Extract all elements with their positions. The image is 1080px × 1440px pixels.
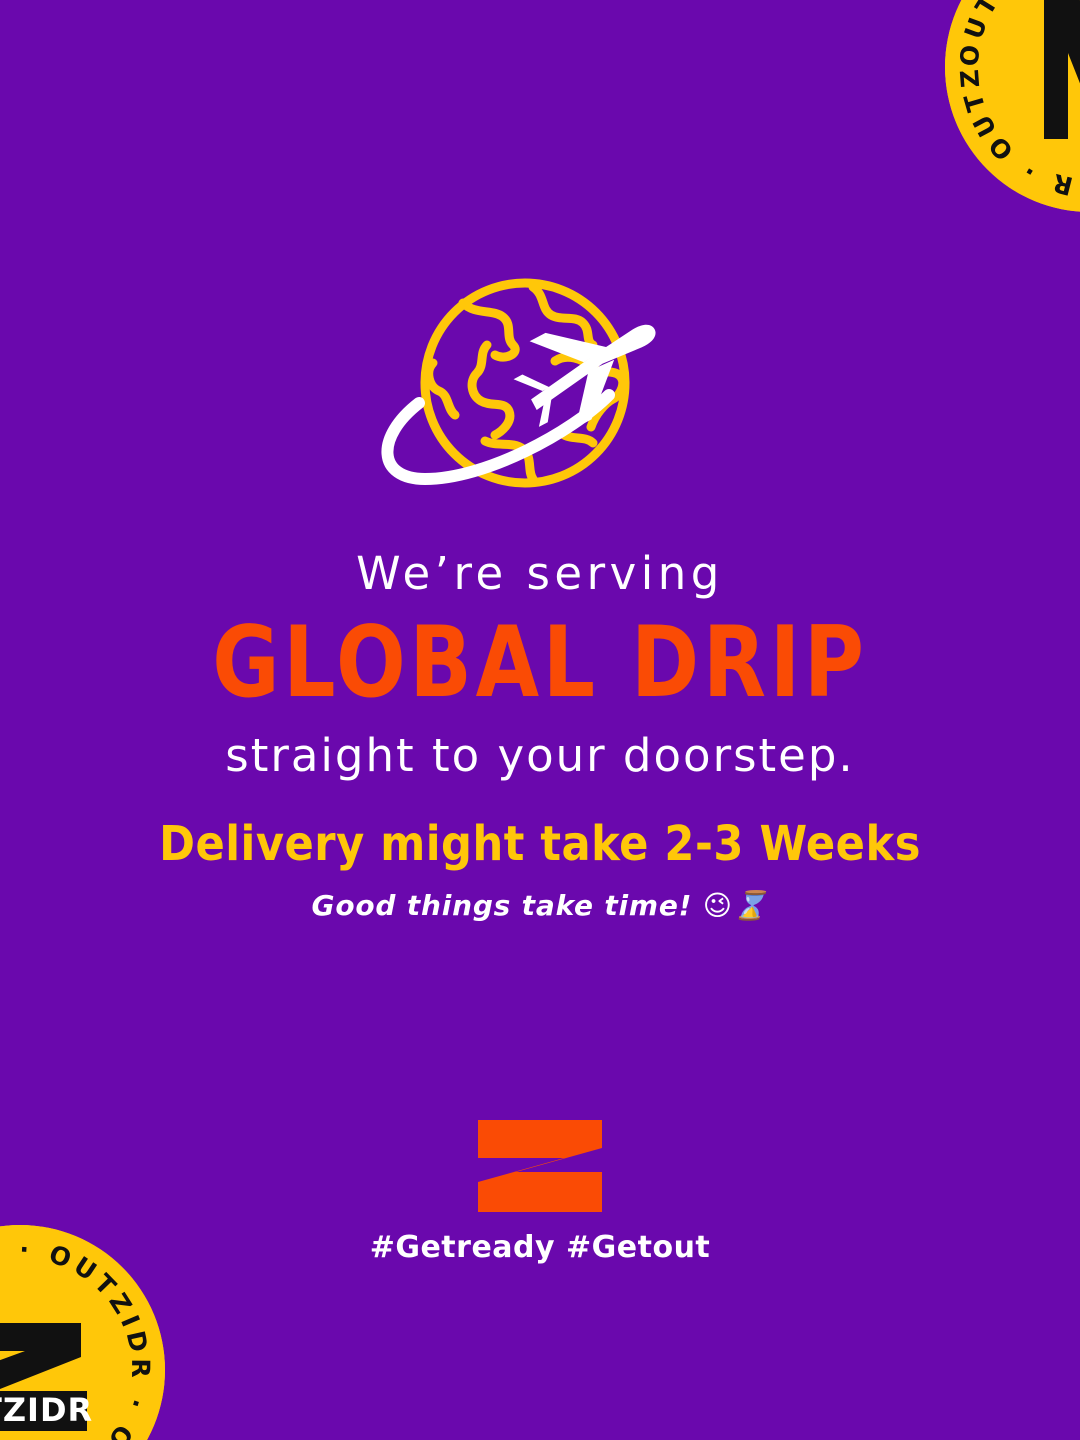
delivery-block: Delivery might take 2-3 Weeks Good thing… [0, 818, 1080, 922]
poster-canvas: OUTZIDR · OUTZIDR · OUTZIDR · OUTZIDR · … [0, 0, 1080, 1440]
brand-z-logo-icon [478, 1120, 602, 1212]
delivery-reassurance: Good things take time! 😉⌛ [0, 889, 1080, 923]
brand-badge-top-right: OUTZIDR · OUTZIDR · OUTZIDR · OUTZIDR · [945, 0, 1080, 212]
headline-subtitle: straight to your doorstep. [0, 730, 1080, 782]
delivery-notice: Delivery might take 2-3 Weeks [0, 818, 1080, 871]
headline-eyebrow: We’re serving [0, 548, 1080, 600]
footer-hashtags: #Getready #Getout [0, 1230, 1080, 1265]
page-title: GLOBAL DRIP [38, 614, 1042, 712]
badge-wordmark: OUTZIDR [0, 1391, 93, 1429]
footer-block: #Getready #Getout [0, 1120, 1080, 1265]
globe-airplane-icon [355, 275, 715, 515]
headline-block: We’re serving GLOBAL DRIP straight to yo… [0, 548, 1080, 782]
